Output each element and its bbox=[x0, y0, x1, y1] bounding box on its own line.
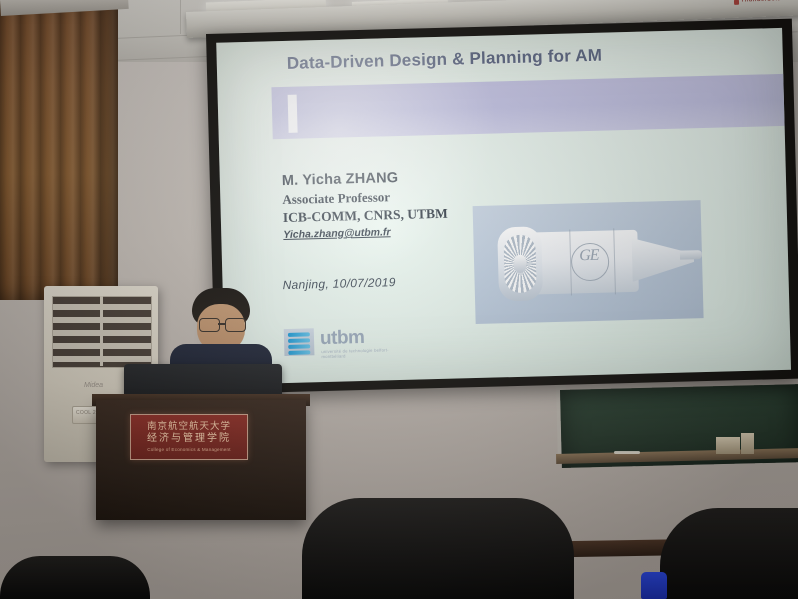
plaque-english-name: College of Economics & Management bbox=[147, 447, 230, 452]
engine-tail-tip bbox=[680, 250, 702, 260]
utbm-logo: utbm université de technologie belfort-m… bbox=[284, 324, 405, 361]
jet-engine-image: GE bbox=[473, 200, 704, 324]
window-curtain bbox=[0, 0, 118, 300]
utbm-mark-icon bbox=[284, 328, 315, 356]
title-accent-bar bbox=[288, 95, 298, 133]
ac-brand-label: Midea bbox=[84, 382, 103, 389]
chalk-stick[interactable] bbox=[614, 451, 640, 454]
presenter-block: M. Yicha ZHANG Associate Professor ICB-C… bbox=[282, 169, 449, 241]
presenter-affiliation: ICB-COMM, CNRS, UTBM bbox=[283, 206, 448, 226]
presenter-name: M. Yicha ZHANG bbox=[282, 169, 447, 189]
eyeglasses-bridge bbox=[218, 323, 226, 325]
ge-logo-text: GE bbox=[573, 247, 605, 266]
presenter-role: Associate Professor bbox=[282, 188, 447, 208]
eyeglasses-left-lens bbox=[199, 318, 220, 332]
lecture-hall-photo: Midea COOL 26 Thunderbolt Data-Driven De… bbox=[0, 0, 798, 599]
plaque-university-name: 南京航空航天大学 bbox=[147, 422, 231, 432]
water-bottle bbox=[641, 572, 667, 599]
engine-spinner-hub bbox=[514, 255, 526, 273]
projector-screen-surface: Data-Driven Design & Planning for AM M. … bbox=[216, 28, 791, 385]
presenter-email[interactable]: Yicha.zhang@utbm.fr bbox=[283, 225, 448, 241]
brand-logo-icon bbox=[734, 0, 739, 5]
housing-brand-label: Thunderbolt bbox=[740, 0, 780, 4]
blackboard-eraser[interactable] bbox=[716, 437, 740, 454]
slide-title-band bbox=[271, 74, 784, 139]
auditorium-seat bbox=[660, 508, 798, 599]
utbm-wordmark: utbm bbox=[320, 327, 365, 350]
slide-title: Data-Driven Design & Planning for AM bbox=[287, 43, 717, 74]
presentation-slide: Data-Driven Design & Planning for AM M. … bbox=[216, 28, 791, 385]
slide-date-location: Nanjing, 10/07/2019 bbox=[282, 275, 395, 292]
blackboard-eraser[interactable] bbox=[741, 433, 754, 454]
utbm-subtitle: université de technologie belfort-montbé… bbox=[321, 347, 404, 359]
plaque-college-name: 经济与管理学院 bbox=[147, 433, 231, 445]
ac-grille-divider bbox=[100, 296, 103, 366]
podium-plaque: 南京航空航天大学 经济与管理学院 College of Economics & … bbox=[130, 414, 248, 460]
auditorium-seat bbox=[0, 556, 150, 599]
eyeglasses-right-lens bbox=[225, 318, 246, 332]
projector-screen-frame: Data-Driven Design & Planning for AM M. … bbox=[206, 19, 798, 394]
auditorium-seat bbox=[302, 498, 574, 599]
